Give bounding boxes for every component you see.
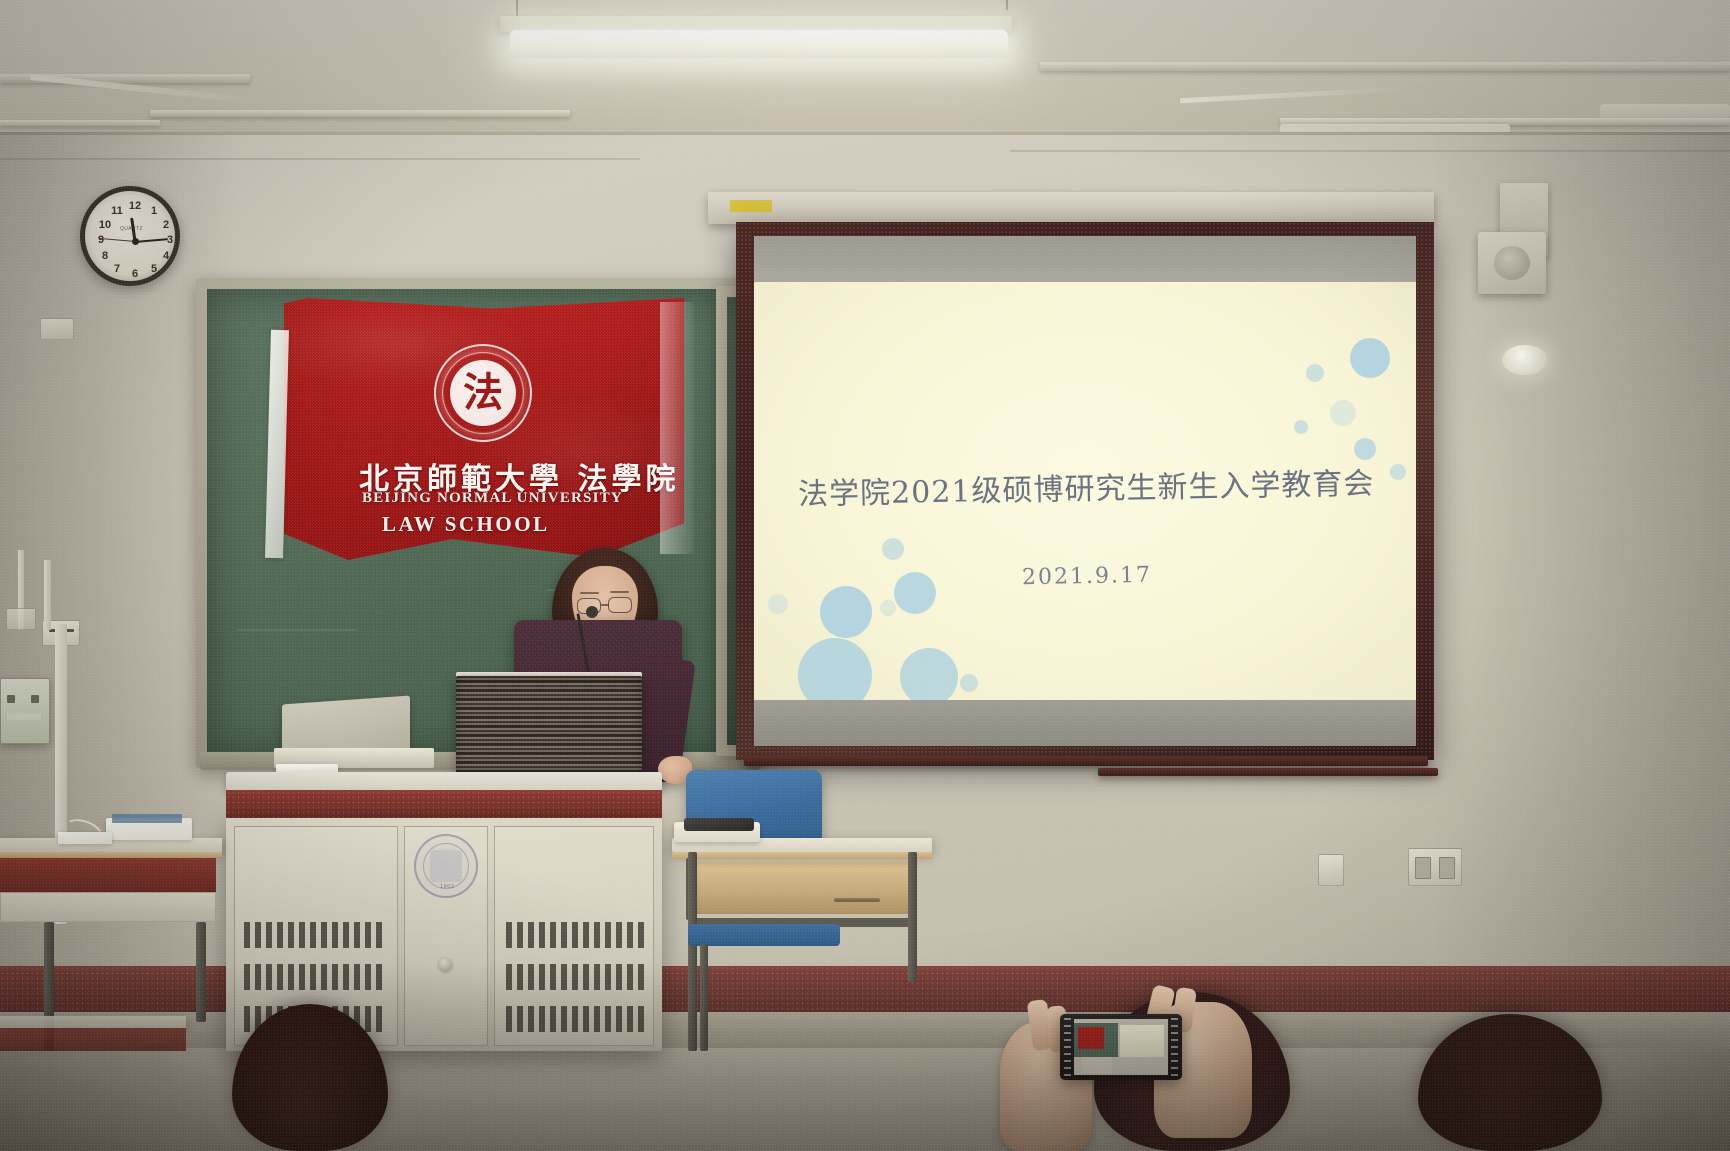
clock-numeral: 12 [127,201,143,212]
phone-right-bezel [1171,1018,1178,1076]
wall-switch-plate-right-lower[interactable] [1318,854,1344,886]
slide-bubble [894,572,936,614]
lamp-offglow-far-right [1600,104,1730,118]
clock-numeral: 7 [109,264,125,275]
podium-seal-emblem [430,850,462,882]
clock-numeral: 8 [97,251,113,262]
side-table-leg-right [196,922,206,1022]
slide-bubble [1354,438,1376,460]
slide-projection-area: 法学院2021级硕博研究生新生入学教育会 2021.9.17 [754,282,1416,700]
slide-bubble [1294,420,1308,434]
panel-switch-2[interactable] [31,695,39,703]
screen-unlit-top-band [754,236,1416,282]
clock-numeral: 6 [127,269,143,280]
speaker-eyebrow-left [580,592,599,594]
podium-vent-grille-right-2 [506,964,646,990]
panel-switch-1[interactable] [7,695,15,703]
wall-switch-plate-right[interactable] [1408,848,1462,886]
podium-university-seal: 1902 [414,834,478,898]
banner-english-line1: BEIJING NORMAL UNIVERSITY [362,490,623,507]
lamp-wire-right [1006,0,1008,10]
wall-plate-left-top[interactable] [40,318,74,340]
phone-screen-preview [1074,1019,1168,1075]
classroom-desk-edge [672,852,932,859]
speaker-glasses-right-lens [608,597,632,613]
electrical-panel-box[interactable] [0,678,50,744]
phone-preview-projection [1120,1025,1164,1057]
slide-bubble [1350,338,1390,378]
podium-red-band [226,790,662,818]
ceiling-beam-mid [150,110,570,117]
desk-leg-right [908,852,917,982]
tray-equipment-item [684,818,754,831]
projector-screen-frame: 法学院2021级硕博研究生新生入学教育会 2021.9.17 [736,222,1434,760]
classroom-chair-seat[interactable] [688,924,840,946]
microphone-capsule [586,606,598,618]
law-school-banner: 法 北京師範大學 法學院 BEIJING NORMAL UNIVERSITY L… [284,298,684,560]
ceiling-beam-left-low [0,120,160,126]
projector-screen-lower-rail [1098,768,1438,776]
switch-button-1[interactable] [1415,857,1431,879]
seal-center-disc: 法 [450,360,516,426]
podium-seal-year: 1902 [440,884,455,890]
side-table-blue-folder [112,814,182,823]
ceiling-beam-right [1040,62,1730,71]
slide-bubble [900,648,958,706]
wall-conduit-left-vertical [44,560,51,630]
projector-screen-bottom-bar [744,756,1428,766]
classroom-desk-drawer[interactable] [696,862,912,914]
phone-preview-banner [1078,1027,1104,1049]
podium-lock-knob[interactable] [439,958,452,971]
slide-bubble [820,586,872,638]
lamp-tube [510,30,1008,58]
clock-numeral: 2 [158,220,174,231]
slide-bubble [960,674,978,692]
seal-glyph-fa: 法 [463,373,503,413]
slide-bubble [768,594,788,614]
clock-numeral: 4 [158,251,174,262]
speaker-eyebrow-right [610,591,629,593]
valance-label-sticker [730,200,772,212]
slide-date-text: 2021.9.17 [1022,563,1152,590]
clock-numeral: 5 [146,264,162,275]
podium-vent-grille-right-1 [506,922,646,948]
side-table-red-band [0,858,216,892]
podium-top-surface [226,772,662,790]
podium-vent-grille-left-1 [244,922,386,948]
podium-slat-stack [456,676,642,774]
wall-clock: 12 1 2 3 4 5 6 7 8 9 10 11 QUARTZ [80,186,180,286]
desk-leg-left [688,852,697,1051]
panel-label-strip [7,713,41,720]
side-table-secondary-band [0,1028,186,1051]
podium-vent-grille-right-3 [506,1006,646,1032]
clock-numeral: 10 [97,220,113,231]
law-school-seal: 法 [434,344,532,442]
slide-bubble [1330,400,1356,426]
phone-preview-podium [1082,1057,1112,1073]
slide-bubble [882,538,904,560]
slide-bubble [1306,364,1324,382]
clock-face: 12 1 2 3 4 5 6 7 8 9 10 11 QUARTZ [90,196,170,276]
clock-center-pin [132,238,139,245]
projector-screen-surface: 法学院2021级硕博研究生新生入学教育会 2021.9.17 [754,236,1416,746]
slide-title-text: 法学院2021级硕博研究生新生入学教育会 [798,458,1375,513]
clock-numeral: 9 [93,235,109,246]
wall-outlet-left-lower[interactable] [6,608,36,630]
projector-screen-valance [708,192,1434,224]
side-table-panel [0,892,216,922]
switch-button-2[interactable] [1439,857,1455,879]
banner-english-line2: LAW SCHOOL [382,512,550,537]
banner-plastic-sheen-right [660,302,694,554]
podium-vent-grille-left-2 [244,964,386,990]
photo-scene: 12 1 2 3 4 5 6 7 8 9 10 11 QUARTZ [0,0,1730,1151]
ceiling-dome-light [1502,345,1548,375]
phone-left-bezel [1064,1018,1071,1076]
speaker-cone [1494,246,1530,280]
speaker-glasses-bridge [601,604,609,606]
podium-band-texture [226,790,662,818]
wall-speaker [1478,232,1546,294]
blackboard-chalk-smudge-1 [237,629,357,631]
desk-drawer-handle[interactable] [834,898,880,902]
screen-unlit-bottom-band [754,700,1416,746]
chair-leg [700,944,708,1051]
side-table-secondary-top [0,1016,186,1028]
clock-numeral: 1 [146,206,162,217]
slide-bubble [1390,464,1406,480]
slide-bubble [880,600,896,616]
smartphone-recording[interactable] [1060,1014,1182,1080]
clock-numeral: 11 [109,206,125,217]
clock-numeral: 3 [162,235,178,246]
